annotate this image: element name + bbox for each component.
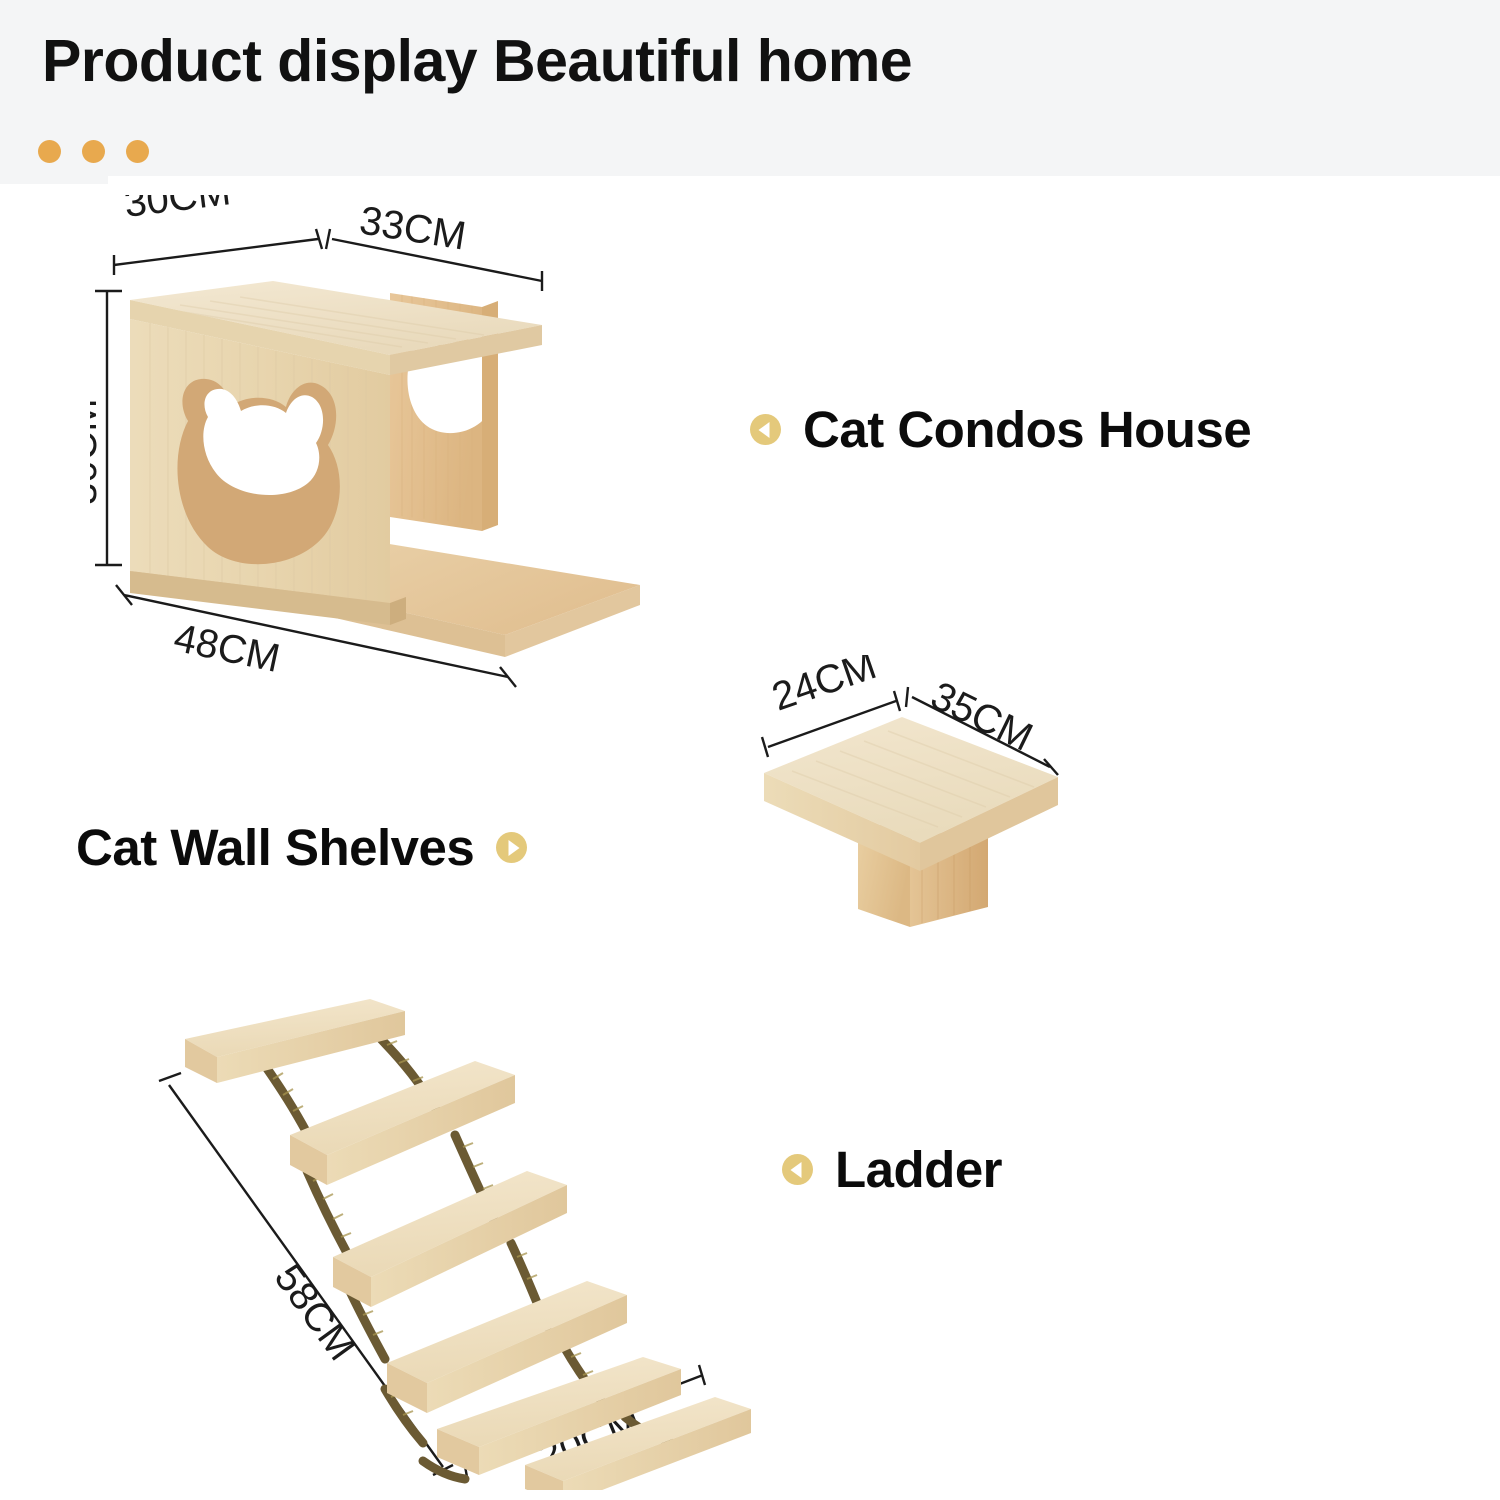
ladder-illustration: 58CM 20CM: [155, 985, 855, 1490]
header-dot-1: [38, 140, 61, 163]
product-label-text: Ladder: [835, 1140, 1002, 1199]
ladder-step: [185, 999, 405, 1083]
dimension-30cm-depth: 30CM: [114, 195, 322, 275]
dimension-label-33cm-width: 33CM: [357, 198, 469, 258]
product-label-cat-wall-shelves: Cat Wall Shelves: [76, 818, 527, 877]
dimension-30cm-height: 30CM: [90, 291, 122, 565]
header-dot-3: [126, 140, 149, 163]
product-label-text: Cat Condos House: [803, 400, 1251, 459]
product-label-ladder: Ladder: [782, 1140, 1002, 1199]
header-decoration-dots: [38, 140, 149, 163]
left-triangle-icon: [782, 1154, 813, 1185]
cat-head-cutout-front: [177, 379, 339, 564]
header-dot-2: [82, 140, 105, 163]
cat-wall-shelves-illustration: 24CM 35CM: [750, 655, 1460, 985]
page-title: Product display Beautiful home: [42, 28, 912, 96]
product-label-text: Cat Wall Shelves: [76, 818, 474, 877]
right-triangle-icon: [496, 832, 527, 863]
dimension-33cm-width: 33CM: [326, 198, 542, 291]
dimension-label-24cm-depth: 24CM: [767, 655, 882, 720]
product-label-cat-condos-house: Cat Condos House: [750, 400, 1251, 459]
dimension-label-30cm-depth: 30CM: [122, 195, 233, 226]
ladder-step: [290, 1061, 515, 1185]
cat-condos-house-illustration: 30CM 33CM 30CM: [90, 195, 690, 755]
left-triangle-icon: [750, 414, 781, 445]
dimension-label-30cm-height: 30CM: [90, 398, 105, 505]
